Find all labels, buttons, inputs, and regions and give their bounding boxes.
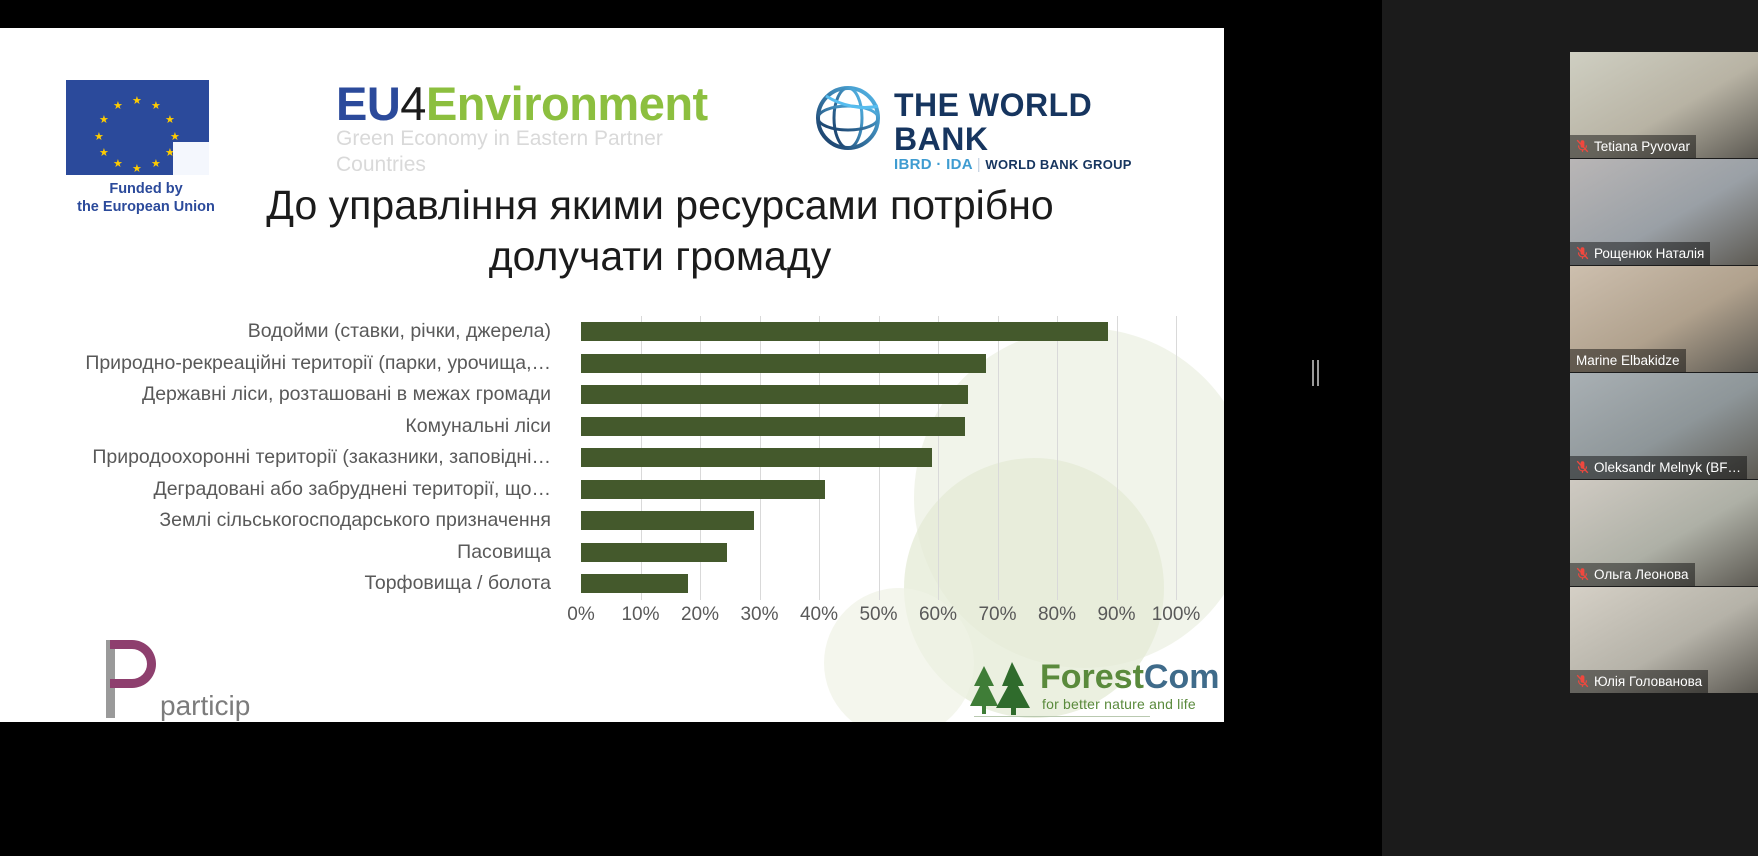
chart-bar (581, 448, 932, 467)
forestcom-tagline: for better nature and life (1042, 696, 1196, 712)
forestcom-fore-text: Forest (1040, 658, 1144, 696)
chart-bar-row (581, 537, 1176, 569)
particip-mark-icon (98, 640, 160, 718)
letterbox-bottom (0, 722, 1224, 856)
participant-tile[interactable]: Tetiana Pyvovar (1570, 52, 1758, 158)
category-label: Торфовища / болота (40, 568, 565, 600)
eu4environment-logo: EU4Environment Green Economy in Eastern … (336, 78, 756, 178)
participant-tile[interactable]: Oleksandr Melnyk (BF… (1570, 373, 1758, 479)
x-axis-tick-label: 50% (859, 604, 897, 626)
participant-name-label: Oleksandr Melnyk (BF… (1594, 456, 1741, 479)
participant-tile[interactable]: Ольга Леонова (1570, 480, 1758, 586)
world-bank-subtitle: IBRD · IDA | WORLD BANK GROUP (894, 156, 1157, 174)
chart-bar-row (581, 316, 1176, 348)
participant-name-label: Marine Elbakidze (1576, 349, 1680, 372)
chart-bar (581, 543, 727, 562)
participant-name-label: Юлія Голованова (1594, 670, 1702, 693)
category-label: Водойми (ставки, річки, джерела) (40, 316, 565, 348)
zoom-meeting-window: ★ ★ ★ ★ ★ ★ ★ ★ ★ ★ ★ ★ Funded by the Eu… (0, 0, 1758, 856)
category-label: Комунальні ліси (40, 411, 565, 443)
eu4env-eu-text: EU (336, 77, 400, 130)
chart-plot-area (581, 316, 1176, 600)
participant-tile[interactable]: Юлія Голованова (1570, 587, 1758, 693)
category-label: Землі сільськогосподарського призначення (40, 505, 565, 537)
eu-caption-line-2: the European Union (66, 198, 226, 216)
x-axis-tick-label: 70% (978, 604, 1016, 626)
category-label: Природоохоронні території (заказники, за… (40, 442, 565, 474)
participant-name-bar: Marine Elbakidze (1570, 349, 1686, 372)
participant-name-label: Tetiana Pyvovar (1594, 135, 1690, 158)
participant-name-bar: Ольга Леонова (1570, 563, 1695, 586)
participant-name-label: Рощенюк Наталія (1594, 242, 1704, 265)
chart-bar (581, 354, 986, 373)
forestcom-wordmark: ForestCom (1040, 658, 1219, 696)
chart-bar (581, 480, 825, 499)
x-axis-tick-label: 30% (740, 604, 778, 626)
eu4env-environment-text: Environment (426, 77, 708, 130)
world-bank-separator: | (977, 156, 981, 173)
chart-bar (581, 322, 1108, 341)
chart-bar (581, 511, 754, 530)
trees-icon (968, 660, 1036, 716)
eu-flag-field: ★ ★ ★ ★ ★ ★ ★ ★ ★ ★ ★ ★ (66, 80, 209, 175)
chart-bar-row (581, 379, 1176, 411)
x-axis-tick-label: 60% (919, 604, 957, 626)
category-label: Деградовані або забруднені території, що… (40, 474, 565, 506)
x-axis-tick-label: 80% (1038, 604, 1076, 626)
eu4env-subtitle: Green Economy in Eastern Partner Countri… (336, 126, 756, 178)
category-label: Природно-рекреаційні території (парки, у… (40, 348, 565, 380)
slide-title: До управління якими ресурсами потрібно д… (220, 180, 1100, 282)
eu-caption-line-1: Funded by (66, 180, 226, 198)
world-bank-group: WORLD BANK GROUP (985, 157, 1131, 172)
category-label: Державні ліси, розташовані в межах грома… (40, 379, 565, 411)
x-axis-tick-label: 20% (681, 604, 719, 626)
chart-bar (581, 574, 688, 593)
participant-name-bar: Рощенюк Наталія (1570, 242, 1710, 265)
bar-chart: Водойми (ставки, річки, джерела)Природно… (40, 316, 1210, 646)
chart-bar-row (581, 474, 1176, 506)
chart-x-axis: 0%10%20%30%40%50%60%70%80%90%100% (581, 604, 1176, 634)
chart-bar (581, 385, 968, 404)
mic-muted-icon (1576, 567, 1589, 583)
eu4environment-wordmark: EU4Environment (336, 78, 756, 130)
chart-category-axis: Водойми (ставки, річки, джерела)Природно… (40, 316, 565, 600)
mic-muted-icon (1576, 139, 1589, 155)
chart-bar-row (581, 442, 1176, 474)
particip-logo: particip (98, 640, 160, 718)
participant-tile[interactable]: Рощенюк Наталія (1570, 159, 1758, 265)
x-axis-tick-label: 0% (567, 604, 594, 626)
eu-flag-logo: ★ ★ ★ ★ ★ ★ ★ ★ ★ ★ ★ ★ Funded by the Eu… (66, 80, 209, 175)
eu-flag-notch (173, 142, 209, 175)
shared-screen-slide[interactable]: ★ ★ ★ ★ ★ ★ ★ ★ ★ ★ ★ ★ Funded by the Eu… (0, 28, 1224, 722)
mic-muted-icon (1576, 246, 1589, 262)
chart-bar-row (581, 411, 1176, 443)
chart-bar-row (581, 348, 1176, 380)
eu4env-four-text: 4 (400, 77, 426, 130)
world-bank-text-block: THE WORLD BANK IBRD · IDA | WORLD BANK G… (894, 88, 1157, 174)
x-axis-tick-label: 40% (800, 604, 838, 626)
forestcom-com-text: Com (1144, 658, 1220, 696)
globe-icon (812, 84, 884, 152)
x-axis-tick-label: 100% (1152, 604, 1201, 626)
forestcom-logo: ForestCom for better nature and life (968, 660, 1208, 722)
category-label: Пасовища (40, 537, 565, 569)
participant-name-label: Ольга Леонова (1594, 563, 1689, 586)
participant-strip: Tetiana PyvovarРощенюк НаталіяMarine Elb… (1382, 0, 1758, 856)
eu-funding-caption: Funded by the European Union (66, 180, 226, 216)
pause-indicator-icon[interactable] (1312, 360, 1322, 386)
participant-name-bar: Юлія Голованова (1570, 670, 1708, 693)
chart-bar-row (581, 568, 1176, 600)
world-bank-logo: THE WORLD BANK IBRD · IDA | WORLD BANK G… (812, 84, 1157, 152)
chart-bar (581, 417, 965, 436)
chart-gridline (1176, 316, 1177, 600)
forestcom-divider (974, 716, 1150, 717)
participant-name-bar: Oleksandr Melnyk (BF… (1570, 456, 1747, 479)
participant-tile[interactable]: Marine Elbakidze (1570, 266, 1758, 372)
world-bank-ibrd-ida: IBRD · IDA (894, 156, 972, 173)
mic-muted-icon (1576, 460, 1589, 476)
letterbox-top (0, 0, 1224, 28)
particip-bowl (110, 640, 156, 688)
participant-name-bar: Tetiana Pyvovar (1570, 135, 1696, 158)
x-axis-tick-label: 10% (621, 604, 659, 626)
particip-wordmark: particip (160, 690, 250, 722)
chart-bar-row (581, 505, 1176, 537)
world-bank-title: THE WORLD BANK (894, 88, 1157, 156)
mic-muted-icon (1576, 674, 1589, 690)
x-axis-tick-label: 90% (1097, 604, 1135, 626)
